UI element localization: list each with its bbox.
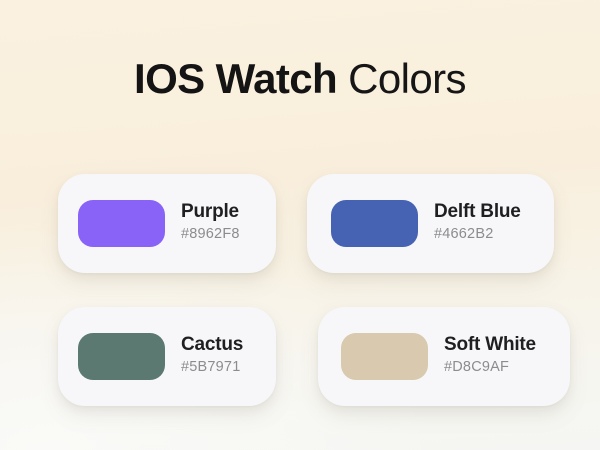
color-card-text-group: Delft Blue #4662B2 (434, 201, 521, 245)
color-swatch-delft-blue (331, 200, 418, 247)
color-hex-label: #5B7971 (181, 357, 243, 379)
page-title: IOS Watch Colors (0, 58, 600, 100)
color-swatch-soft-white (341, 333, 428, 380)
color-card-cactus[interactable]: Cactus #5B7971 (58, 307, 276, 406)
color-card-purple[interactable]: Purple #8962F8 (58, 174, 276, 273)
color-name-label: Soft White (444, 334, 536, 356)
color-hex-label: #D8C9AF (444, 357, 536, 379)
color-hex-label: #4662B2 (434, 224, 521, 246)
palette-page: IOS Watch Colors Purple #8962F8 Delft Bl… (0, 0, 600, 450)
page-title-light: Colors (337, 55, 466, 102)
color-name-label: Delft Blue (434, 201, 521, 223)
color-hex-label: #8962F8 (181, 224, 240, 246)
color-card-text-group: Soft White #D8C9AF (444, 334, 536, 378)
page-title-strong: IOS Watch (134, 55, 337, 102)
color-card-soft-white[interactable]: Soft White #D8C9AF (318, 307, 570, 406)
color-card-delft-blue[interactable]: Delft Blue #4662B2 (307, 174, 554, 273)
color-card-text-group: Purple #8962F8 (181, 201, 240, 245)
color-card-text-group: Cactus #5B7971 (181, 334, 243, 378)
color-swatch-cactus (78, 333, 165, 380)
color-name-label: Purple (181, 201, 240, 223)
page-title-text: IOS Watch Colors (134, 55, 466, 102)
color-name-label: Cactus (181, 334, 243, 356)
color-swatch-purple (78, 200, 165, 247)
